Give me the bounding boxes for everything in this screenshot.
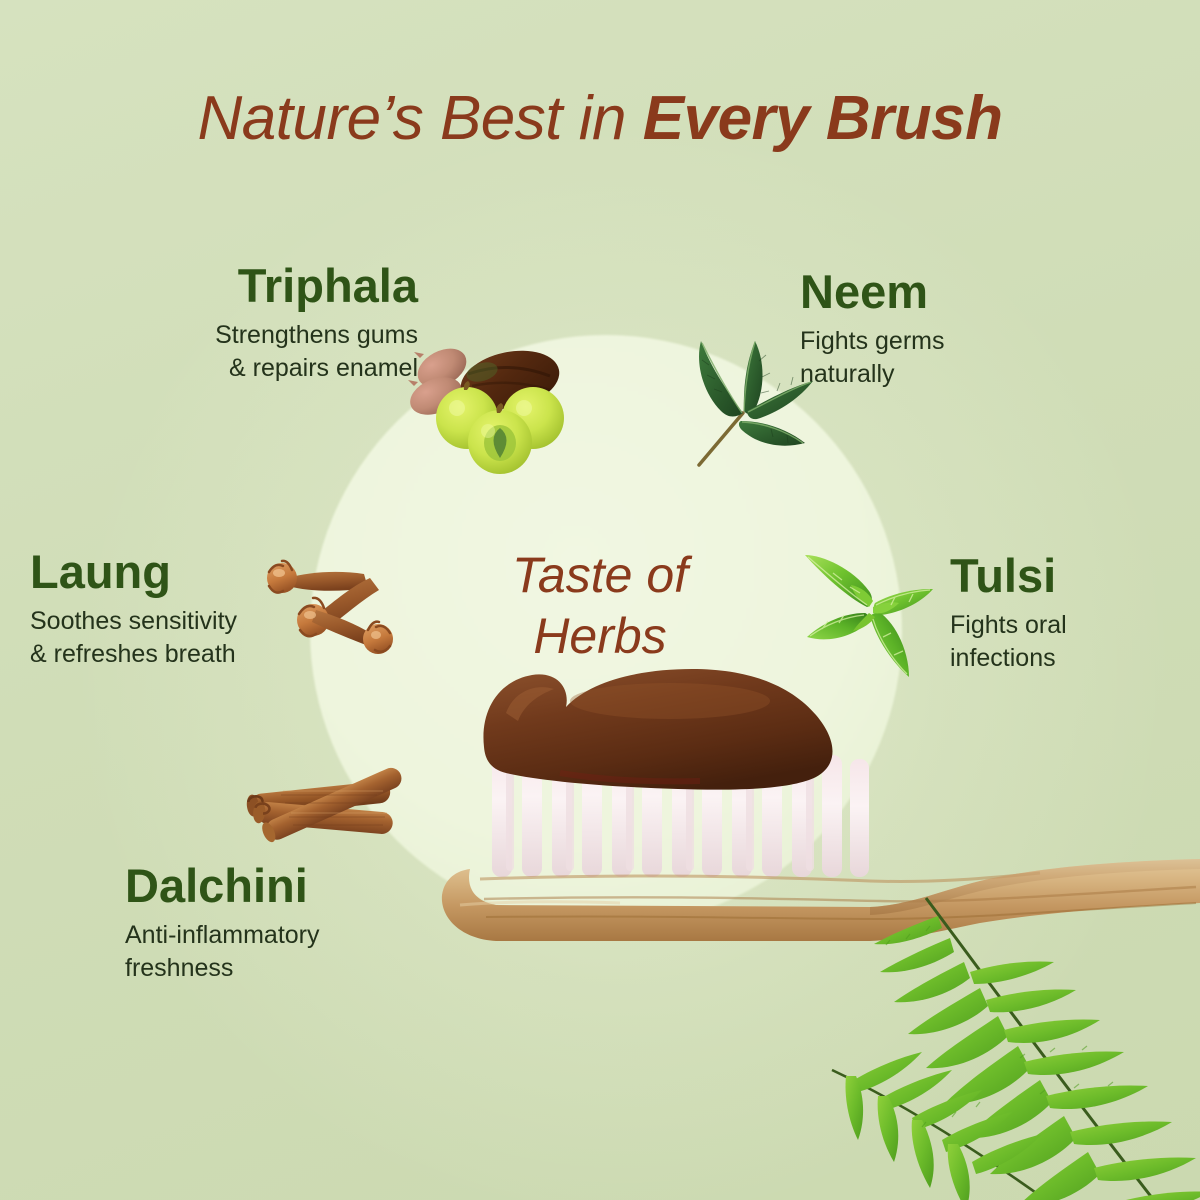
herb-block-laung: Laung Soothes sensitivity & refreshes br… xyxy=(30,548,285,671)
fern-frond-graphic xyxy=(830,890,1200,1200)
herb-name-triphala: Triphala xyxy=(118,262,418,309)
neem-leaf-illustration xyxy=(685,325,830,480)
title-part-two: Every Brush xyxy=(643,84,1003,153)
herb-description-dalchini: Anti-inflammatory freshness xyxy=(125,919,395,985)
herb-block-neem: Neem Fights germs naturally xyxy=(800,268,1030,391)
herb-description-laung: Soothes sensitivity & refreshes breath xyxy=(30,605,285,671)
herb-name-tulsi: Tulsi xyxy=(950,552,1180,599)
herb-name-dalchini: Dalchini xyxy=(125,862,395,909)
cinnamon-sticks-illustration xyxy=(235,745,415,865)
triphala-fruits-illustration xyxy=(400,330,590,475)
herb-description-triphala: Strengthens gums & repairs enamel xyxy=(118,319,418,385)
title-part-one: Nature’s Best in xyxy=(197,84,642,153)
herb-block-dalchini: Dalchini Anti-inflammatory freshness xyxy=(125,862,395,985)
center-label: Taste of Herbs xyxy=(430,545,770,667)
clove-illustration xyxy=(252,540,402,655)
herb-name-laung: Laung xyxy=(30,548,285,595)
center-label-line-1: Taste of xyxy=(430,545,770,606)
poster-canvas: Nature’s Best in Every Brush Taste of He… xyxy=(0,0,1200,1200)
herb-block-triphala: Triphala Strengthens gums & repairs enam… xyxy=(118,262,418,385)
poster-title: Nature’s Best in Every Brush xyxy=(0,86,1200,151)
herb-description-neem: Fights germs naturally xyxy=(800,325,1030,391)
herb-name-neem: Neem xyxy=(800,268,1030,315)
